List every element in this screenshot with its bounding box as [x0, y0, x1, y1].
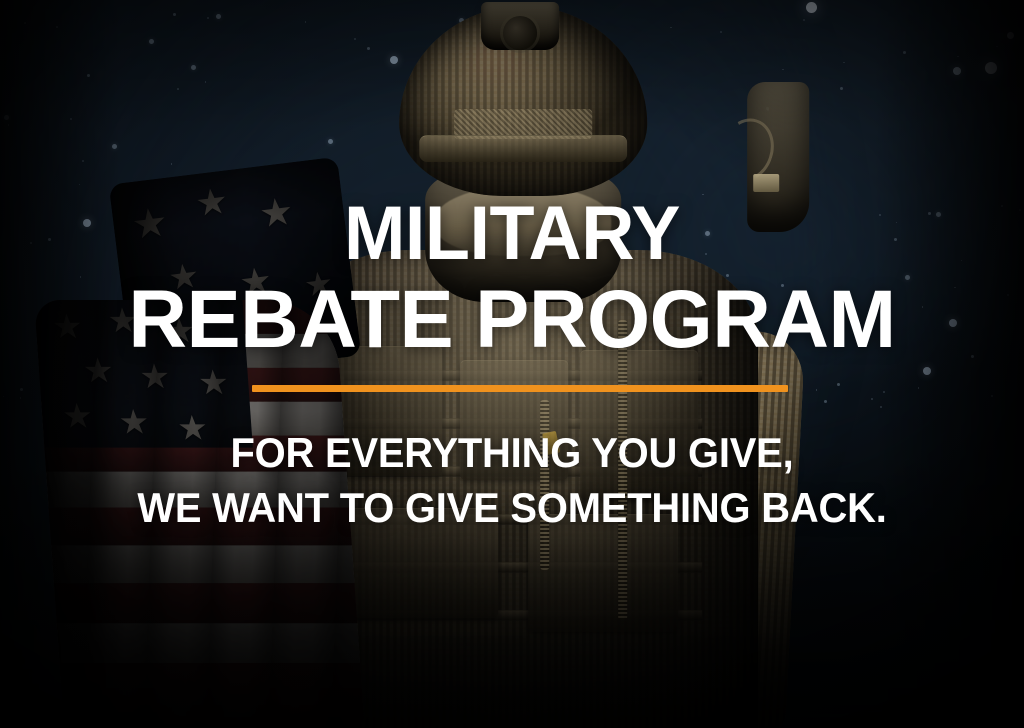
star-dot — [24, 22, 26, 24]
star-dot — [879, 214, 881, 216]
star-dot — [949, 319, 957, 327]
star-dot — [20, 388, 23, 391]
star-dot — [971, 355, 974, 358]
star-dot — [112, 144, 117, 149]
star-dot — [70, 118, 72, 120]
star-dot — [177, 88, 179, 90]
star-dot — [824, 400, 827, 403]
star-dot — [957, 56, 959, 58]
star-dot — [3, 396, 5, 398]
star-dot-bright — [806, 2, 817, 13]
nvg-knob — [503, 16, 537, 50]
military-rebate-banner: ★ ★ ★ ★ ★ ★ ★ ★ ★ ★ ★ ★ ★ ★ ★ — [0, 0, 1024, 728]
star-dot — [896, 222, 898, 224]
star-dot — [8, 124, 10, 126]
flag-shading — [34, 300, 365, 727]
star-dot — [923, 367, 931, 375]
star-dot — [840, 87, 843, 90]
star-dot-bright — [985, 62, 997, 74]
star-dot — [928, 212, 931, 215]
star-dot — [961, 260, 963, 262]
star-dot — [83, 219, 91, 227]
star-dot — [1019, 209, 1021, 211]
helmet-ir-patch — [753, 174, 779, 192]
star-dot — [207, 17, 209, 19]
star-dot — [82, 160, 84, 162]
helmet-rail — [419, 135, 627, 162]
star-dot — [1007, 294, 1009, 296]
star-dot — [905, 275, 910, 280]
star-dot — [843, 62, 845, 64]
star-dot — [1001, 205, 1003, 207]
star-dot — [991, 395, 993, 397]
star-dot — [922, 306, 924, 308]
star-dot — [953, 67, 961, 75]
star-dot — [205, 81, 207, 83]
star-dot-bright — [1007, 32, 1014, 39]
star-dot — [56, 26, 58, 28]
star-dot — [149, 39, 154, 44]
star-dot — [803, 19, 805, 21]
star-dot — [4, 115, 9, 120]
star-dot — [996, 46, 998, 48]
face-gaiter — [435, 186, 611, 256]
star-dot — [918, 387, 920, 389]
star-dot — [191, 65, 196, 70]
star-dot — [880, 406, 882, 408]
star-dot — [936, 212, 941, 217]
star-dot — [883, 391, 885, 393]
star-dot — [87, 74, 90, 77]
star-dot — [80, 276, 82, 278]
star-dot — [871, 398, 873, 400]
star-dot — [216, 14, 221, 19]
star-dot — [79, 184, 81, 186]
nvg-mount-icon — [481, 2, 559, 50]
star-dot — [954, 287, 956, 289]
star-dot — [894, 238, 897, 241]
star-dot — [837, 383, 840, 386]
american-flag-drape: ★ ★ ★ ★ ★ ★ ★ ★ ★ — [34, 300, 365, 727]
star-dot — [903, 51, 906, 54]
star-dot — [30, 242, 32, 244]
star-dot — [20, 397, 22, 399]
star-dot — [171, 163, 173, 165]
star-dot — [816, 389, 818, 391]
star-dot — [173, 13, 176, 16]
star-dot — [48, 238, 51, 241]
